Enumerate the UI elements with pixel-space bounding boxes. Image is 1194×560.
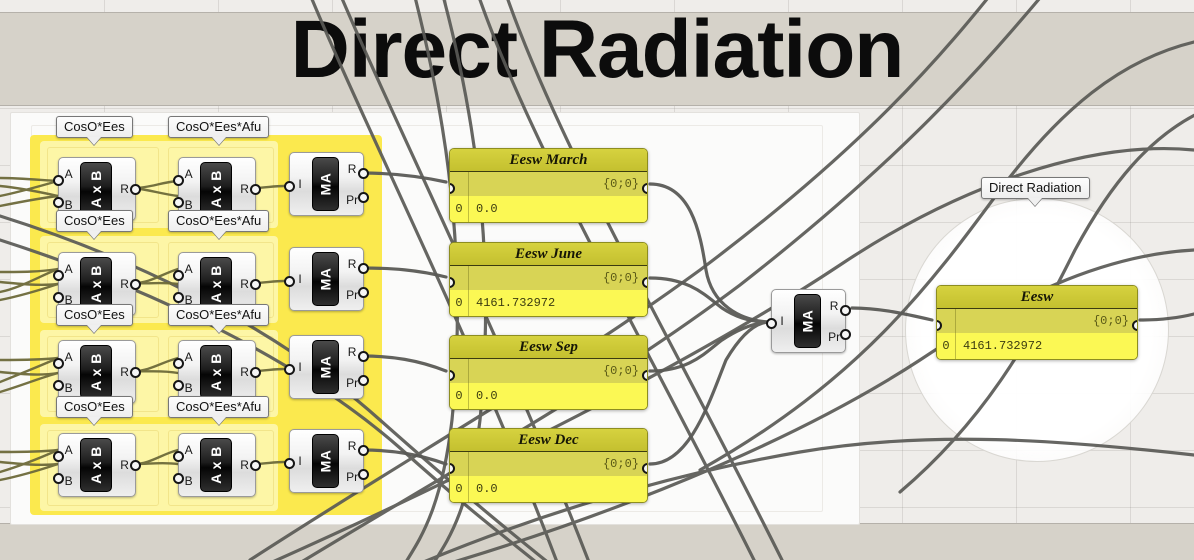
panel-row-value: 4161.732972 xyxy=(955,339,1042,353)
panel-data-row: 0 4161.732972 xyxy=(450,290,647,316)
output-label-r: R xyxy=(120,277,129,291)
component-mass-addition-r4[interactable]: I MA R Pr xyxy=(289,429,364,493)
output-label-pr: Pr xyxy=(346,376,358,390)
component-plate: MA xyxy=(312,157,339,211)
port-input-b[interactable] xyxy=(173,473,184,484)
panel-path-row: {0;0} xyxy=(450,359,647,383)
output-label-pr: Pr xyxy=(346,288,358,302)
port-output-r[interactable] xyxy=(358,263,369,274)
panel-title: Eesw June xyxy=(450,243,647,266)
port-input-b[interactable] xyxy=(53,473,64,484)
callout-coso-ees-top[interactable]: CosO*Ees xyxy=(56,116,133,138)
callout-coso-ees-r3[interactable]: CosO*Ees xyxy=(56,396,133,418)
component-plate: MA xyxy=(312,252,339,306)
port-panel-output[interactable] xyxy=(642,370,648,381)
panel-path: {0;0} xyxy=(1093,314,1129,328)
panel-row-value: 4161.732972 xyxy=(468,296,555,310)
component-plate: A x B xyxy=(200,345,232,399)
port-input-a[interactable] xyxy=(53,358,64,369)
output-label-r: R xyxy=(120,182,129,196)
input-label-b: B xyxy=(185,381,193,395)
input-label-i: I xyxy=(298,177,301,191)
panel-column-divider xyxy=(468,266,469,290)
output-label-r: R xyxy=(348,162,357,176)
panel-title: Eesw Sep xyxy=(450,336,647,359)
output-label-pr: Pr xyxy=(346,470,358,484)
panel-row-index: 0 xyxy=(450,202,468,216)
panel-column-divider xyxy=(468,196,469,222)
callout-coso-ees-r1[interactable]: CosO*Ees xyxy=(56,210,133,232)
panel-eesw-march[interactable]: Eesw March {0;0} 0 0.0 xyxy=(449,148,648,223)
component-plate: MA xyxy=(794,294,821,348)
port-input-i[interactable] xyxy=(284,181,295,192)
panel-title: Eesw xyxy=(937,286,1137,309)
port-panel-output[interactable] xyxy=(642,183,648,194)
panel-title: Eesw Dec xyxy=(450,429,647,452)
port-output-r[interactable] xyxy=(250,184,261,195)
output-label-pr: Pr xyxy=(346,193,358,207)
panel-column-divider xyxy=(468,172,469,196)
input-label-i: I xyxy=(298,454,301,468)
panel-eesw-sep[interactable]: Eesw Sep {0;0} 0 0.0 xyxy=(449,335,648,410)
port-input-b[interactable] xyxy=(53,292,64,303)
output-labels: R Pr xyxy=(341,336,363,398)
port-output-r[interactable] xyxy=(250,460,261,471)
callout-coso-ees-afu-r3[interactable]: CosO*Ees*Afu xyxy=(168,396,269,418)
panel-eesw-june[interactable]: Eesw June {0;0} 0 4161.732972 xyxy=(449,242,648,317)
component-plate: A x B xyxy=(80,257,112,311)
component-plate: A x B xyxy=(80,438,112,492)
panel-column-divider xyxy=(955,309,956,333)
input-label-a: A xyxy=(65,262,73,276)
port-input-a[interactable] xyxy=(53,175,64,186)
port-input-a[interactable] xyxy=(173,358,184,369)
port-output-pr[interactable] xyxy=(840,329,851,340)
output-label-r: R xyxy=(348,257,357,271)
panel-data-row: 0 0.0 xyxy=(450,383,647,409)
input-label-i: I xyxy=(780,314,783,328)
input-label-i: I xyxy=(298,272,301,286)
panel-column-divider xyxy=(955,333,956,359)
port-input-b[interactable] xyxy=(53,380,64,391)
output-labels: R Pr xyxy=(341,430,363,492)
component-plate: A x B xyxy=(200,438,232,492)
component-multiply-r3c2[interactable]: A B A x B R xyxy=(178,340,256,404)
output-label-r: R xyxy=(120,458,129,472)
input-label-b: B xyxy=(65,474,73,488)
output-labels: R Pr xyxy=(341,153,363,215)
input-label-a: A xyxy=(65,443,73,457)
callout-coso-ees-afu-r2[interactable]: CosO*Ees*Afu xyxy=(168,304,269,326)
panel-column-divider xyxy=(468,359,469,383)
output-label-r: R xyxy=(240,458,249,472)
port-output-pr[interactable] xyxy=(358,287,369,298)
panel-column-divider xyxy=(468,452,469,476)
port-output-r[interactable] xyxy=(250,279,261,290)
component-plate: MA xyxy=(312,340,339,394)
port-output-r[interactable] xyxy=(358,351,369,362)
input-labels: A B xyxy=(179,341,198,403)
port-panel-output[interactable] xyxy=(642,463,648,474)
component-mass-addition-total[interactable]: I MA R Pr xyxy=(771,289,846,353)
port-output-pr[interactable] xyxy=(358,469,369,480)
input-labels: A B xyxy=(179,434,198,496)
output-label-r: R xyxy=(240,182,249,196)
input-label-a: A xyxy=(65,350,73,364)
port-output-r[interactable] xyxy=(130,184,141,195)
port-input-a[interactable] xyxy=(173,270,184,281)
panel-path-row: {0;0} xyxy=(450,266,647,290)
panel-data-row: 0 4161.732972 xyxy=(937,333,1137,359)
panel-row-index: 0 xyxy=(450,296,468,310)
output-label-r: R xyxy=(240,365,249,379)
page-title: Direct Radiation xyxy=(0,2,1194,98)
port-output-r[interactable] xyxy=(130,367,141,378)
port-input-i[interactable] xyxy=(766,318,777,329)
panel-column-divider xyxy=(468,383,469,409)
port-output-pr[interactable] xyxy=(358,192,369,203)
input-labels: A B xyxy=(59,341,78,403)
component-plate: A x B xyxy=(80,162,112,216)
panel-data-row: 0 0.0 xyxy=(450,476,647,502)
port-input-i[interactable] xyxy=(284,276,295,287)
port-input-i[interactable] xyxy=(284,364,295,375)
port-input-b[interactable] xyxy=(173,380,184,391)
panel-row-index: 0 xyxy=(937,339,955,353)
output-label-r: R xyxy=(240,277,249,291)
component-multiply-r4c1[interactable]: A B A x B R xyxy=(58,433,136,497)
port-output-pr[interactable] xyxy=(358,375,369,386)
input-label-a: A xyxy=(185,350,193,364)
port-input-a[interactable] xyxy=(173,451,184,462)
panel-path-row: {0;0} xyxy=(450,172,647,196)
port-input-b[interactable] xyxy=(173,197,184,208)
input-label-b: B xyxy=(185,474,193,488)
port-input-b[interactable] xyxy=(53,197,64,208)
port-output-r[interactable] xyxy=(840,305,851,316)
output-label-r: R xyxy=(120,365,129,379)
component-multiply-r4c2[interactable]: A B A x B R xyxy=(178,433,256,497)
input-label-a: A xyxy=(185,443,193,457)
port-input-a[interactable] xyxy=(53,451,64,462)
panel-path: {0;0} xyxy=(603,364,639,378)
panel-row-index: 0 xyxy=(450,389,468,403)
component-plate: A x B xyxy=(80,345,112,399)
component-multiply-r3c1[interactable]: A B A x B R xyxy=(58,340,136,404)
port-panel-output[interactable] xyxy=(1132,320,1138,331)
port-input-i[interactable] xyxy=(284,458,295,469)
output-label-r: R xyxy=(348,345,357,359)
panel-path-row: {0;0} xyxy=(450,452,647,476)
input-labels: A B xyxy=(59,434,78,496)
output-label-r: R xyxy=(348,439,357,453)
callout-coso-ees-afu-r1[interactable]: CosO*Ees*Afu xyxy=(168,210,269,232)
port-output-r[interactable] xyxy=(358,445,369,456)
footer-band xyxy=(0,523,1194,560)
input-label-i: I xyxy=(298,360,301,374)
component-mass-addition-r2[interactable]: I MA R Pr xyxy=(289,247,364,311)
component-plate: A x B xyxy=(200,162,232,216)
panel-eesw-dec[interactable]: Eesw Dec {0;0} 0 0.0 xyxy=(449,428,648,503)
panel-eesw-total[interactable]: Eesw {0;0} 0 4161.732972 xyxy=(936,285,1138,360)
component-mass-addition-r3[interactable]: I MA R Pr xyxy=(289,335,364,399)
port-output-r[interactable] xyxy=(130,279,141,290)
grasshopper-canvas[interactable]: Direct Radiation xyxy=(0,0,1194,560)
panel-path: {0;0} xyxy=(603,457,639,471)
panel-path: {0;0} xyxy=(603,271,639,285)
component-plate: A x B xyxy=(200,257,232,311)
panel-row-index: 0 xyxy=(450,482,468,496)
panel-data-row: 0 0.0 xyxy=(450,196,647,222)
input-label-a: A xyxy=(185,167,193,181)
port-input-a[interactable] xyxy=(173,175,184,186)
panel-column-divider xyxy=(468,290,469,316)
output-labels: R Pr xyxy=(341,248,363,310)
panel-title: Eesw March xyxy=(450,149,647,172)
port-output-r[interactable] xyxy=(250,367,261,378)
component-mass-addition-r1[interactable]: I MA R Pr xyxy=(289,152,364,216)
panel-row-value: 0.0 xyxy=(468,482,498,496)
title-band-bottom-line xyxy=(0,105,1194,106)
panel-row-value: 0.0 xyxy=(468,389,498,403)
output-labels: R Pr xyxy=(823,290,845,352)
callout-direct-radiation[interactable]: Direct Radiation xyxy=(981,177,1090,199)
output-label-r: R xyxy=(830,299,839,313)
component-plate: MA xyxy=(312,434,339,488)
input-label-a: A xyxy=(65,167,73,181)
callout-coso-ees-r2[interactable]: CosO*Ees xyxy=(56,304,133,326)
port-panel-output[interactable] xyxy=(642,277,648,288)
input-label-b: B xyxy=(65,381,73,395)
port-input-b[interactable] xyxy=(173,292,184,303)
panel-path-row: {0;0} xyxy=(937,309,1137,333)
callout-coso-ees-afu-top[interactable]: CosO*Ees*Afu xyxy=(168,116,269,138)
panel-row-value: 0.0 xyxy=(468,202,498,216)
panel-column-divider xyxy=(468,476,469,502)
port-output-r[interactable] xyxy=(358,168,369,179)
panel-path: {0;0} xyxy=(603,177,639,191)
port-output-r[interactable] xyxy=(130,460,141,471)
output-label-pr: Pr xyxy=(828,330,840,344)
input-label-a: A xyxy=(185,262,193,276)
port-input-a[interactable] xyxy=(53,270,64,281)
